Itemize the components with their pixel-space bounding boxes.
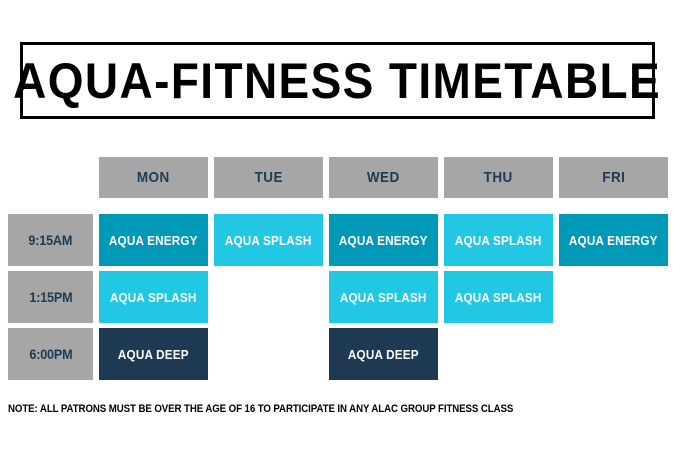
time-label-cell: 6:00PM <box>8 328 93 380</box>
class-label: AQUA ENERGY <box>569 233 658 248</box>
class-cell-tue-1315 <box>214 271 323 323</box>
day-header-mon: MON <box>99 157 208 198</box>
class-label: AQUA ENERGY <box>109 233 198 248</box>
day-header-row: MON TUE WED THU FRI <box>8 157 668 209</box>
title-banner: AQUA-FITNESS TIMETABLE <box>20 42 655 119</box>
class-cell-thu-0915[interactable]: AQUA SPLASH <box>444 214 553 266</box>
class-cell-fri-0915[interactable]: AQUA ENERGY <box>559 214 668 266</box>
day-header-thu: THU <box>444 157 553 198</box>
day-header-fri: FRI <box>559 157 668 198</box>
day-header-label: THU <box>484 169 513 186</box>
day-header-label: TUE <box>254 169 282 186</box>
class-label: AQUA DEEP <box>118 347 189 362</box>
class-cell-wed-0915[interactable]: AQUA ENERGY <box>329 214 438 266</box>
class-cell-tue-0915[interactable]: AQUA SPLASH <box>214 214 323 266</box>
class-cell-thu-1800 <box>444 328 553 380</box>
class-cell-thu-1315[interactable]: AQUA SPLASH <box>444 271 553 323</box>
class-label: AQUA SPLASH <box>340 290 427 305</box>
class-cell-wed-1800[interactable]: AQUA DEEP <box>329 328 438 380</box>
class-cell-tue-1800 <box>214 328 323 380</box>
time-label-cell: 9:15AM <box>8 214 93 266</box>
class-label: AQUA SPLASH <box>225 233 312 248</box>
day-header-label: FRI <box>602 169 625 186</box>
class-label: AQUA SPLASH <box>455 233 542 248</box>
day-header-label: WED <box>367 169 400 186</box>
footer-note: NOTE: ALL PATRONS MUST BE OVER THE AGE O… <box>8 403 513 415</box>
day-header-tue: TUE <box>214 157 323 198</box>
class-cell-wed-1315[interactable]: AQUA SPLASH <box>329 271 438 323</box>
grid-corner-spacer <box>8 157 93 209</box>
timetable-row-evening: 6:00PM AQUA DEEP AQUA DEEP <box>8 328 668 380</box>
time-label: 6:00PM <box>29 346 72 362</box>
class-cell-fri-1800 <box>559 328 668 380</box>
class-label: AQUA DEEP <box>348 347 419 362</box>
time-label-cell: 1:15PM <box>8 271 93 323</box>
day-header-label: MON <box>137 169 170 186</box>
time-label: 1:15PM <box>29 289 72 305</box>
class-cell-mon-1800[interactable]: AQUA DEEP <box>99 328 208 380</box>
timetable-row-morning: 9:15AM AQUA ENERGY AQUA SPLASH AQUA ENER… <box>8 214 668 266</box>
time-label: 9:15AM <box>29 232 73 248</box>
day-header-wed: WED <box>329 157 438 198</box>
class-label: AQUA ENERGY <box>339 233 428 248</box>
page-title: AQUA-FITNESS TIMETABLE <box>14 56 662 106</box>
class-label: AQUA SPLASH <box>110 290 197 305</box>
class-label: AQUA SPLASH <box>455 290 542 305</box>
timetable-grid: MON TUE WED THU FRI 9:15AM AQUA ENERGY A… <box>8 157 668 380</box>
class-cell-fri-1315 <box>559 271 668 323</box>
class-cell-mon-1315[interactable]: AQUA SPLASH <box>99 271 208 323</box>
timetable-row-afternoon: 1:15PM AQUA SPLASH AQUA SPLASH AQUA SPLA… <box>8 271 668 323</box>
class-cell-mon-0915[interactable]: AQUA ENERGY <box>99 214 208 266</box>
